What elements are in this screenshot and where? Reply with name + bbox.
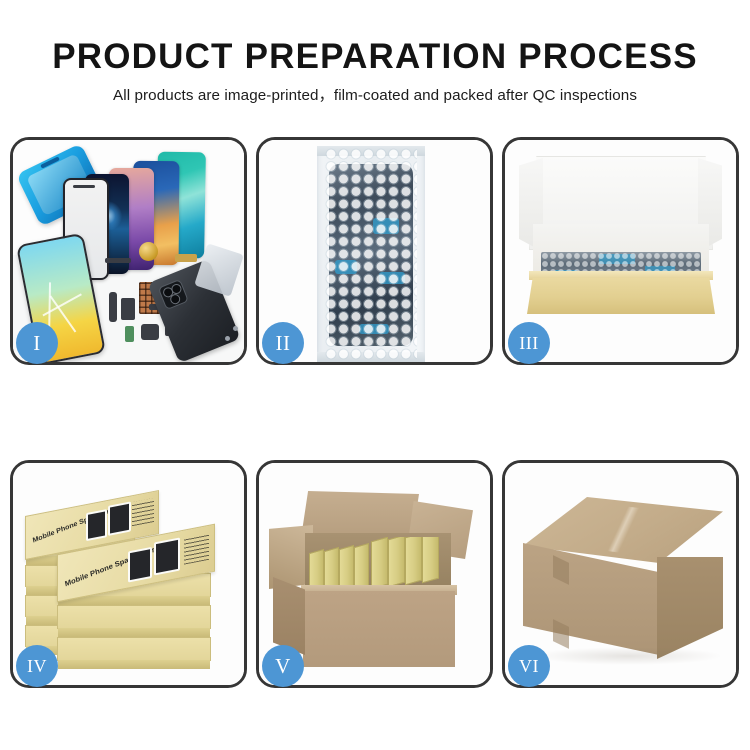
screw-icon [225,336,230,341]
step-badge-4: IV [16,645,58,687]
screw-icon [233,326,238,331]
box-front-panel [527,278,715,314]
step-panel-3[interactable]: III [502,137,739,365]
step-panel-6[interactable]: VI [502,460,739,688]
carton-side-face [657,557,723,659]
carton-front-face [303,591,455,667]
step-panel-1[interactable]: I [10,137,247,365]
bubble-texture [325,148,417,360]
page-title: PRODUCT PREPARATION PROCESS [0,0,750,78]
step-badge-1: I [16,322,58,364]
bubble-wrap-bag [317,146,425,362]
product-preparation-infographic: PRODUCT PREPARATION PROCESS All products… [0,0,750,750]
open-shipping-carton [267,485,483,677]
carton-side-face [273,577,305,655]
camera-module [158,279,189,310]
sealed-shipping-carton [523,497,723,661]
step-panel-2[interactable]: II [256,137,493,365]
box-stack: Mobile Phone Spare Parts Mobile Phone Sp… [19,477,239,677]
step-badge-3: III [508,322,550,364]
step-panel-4[interactable]: Mobile Phone Spare Parts Mobile Phone Sp… [10,460,247,688]
step-badge-6: VI [508,645,550,687]
steps-grid: I II [10,137,740,697]
step-badge-2: II [262,322,304,364]
taptic-part [139,242,158,261]
carton-shadow [533,647,723,665]
header: PRODUCT PREPARATION PROCESS All products… [0,0,750,106]
step-panel-5[interactable]: V [256,460,493,688]
step-badge-5: V [262,645,304,687]
page-subtitle: All products are image-printed，film-coat… [0,78,750,106]
